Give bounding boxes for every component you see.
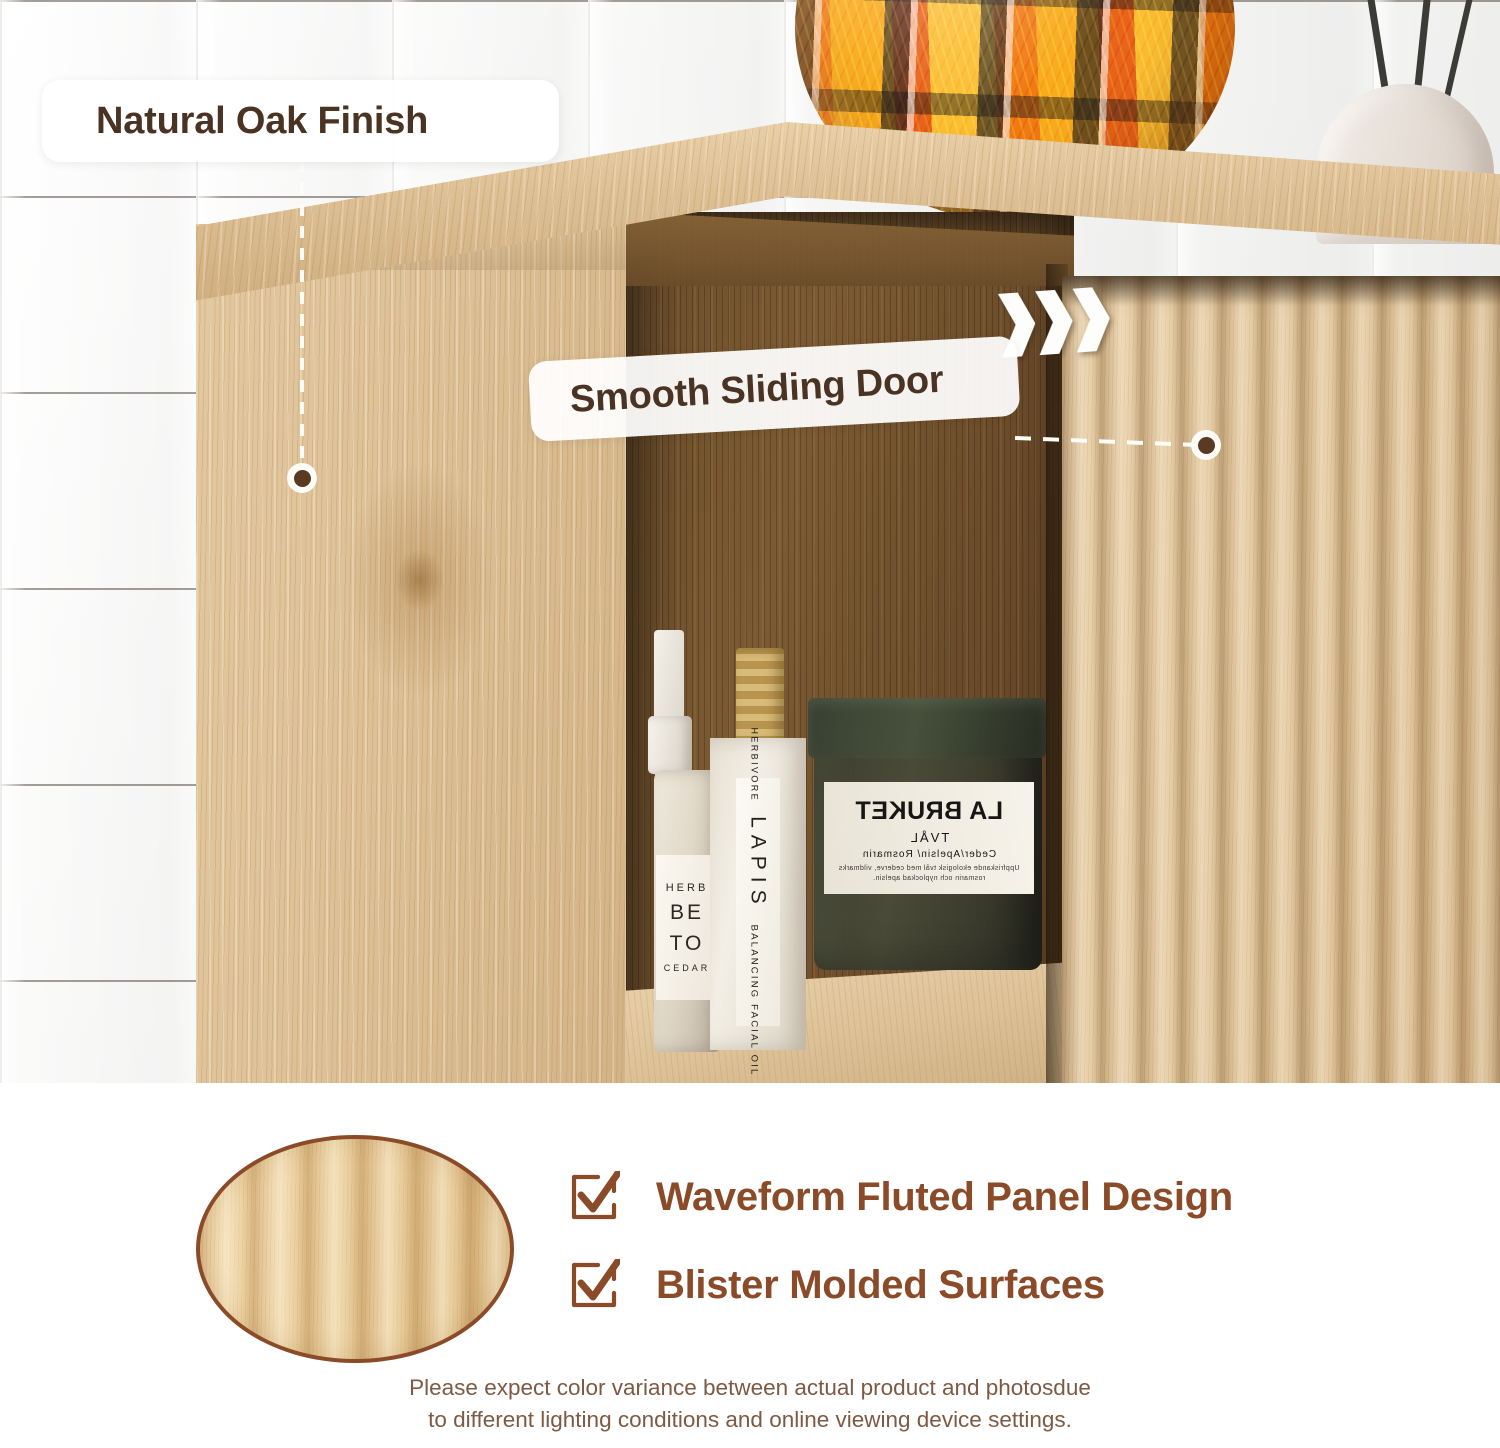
soap-jar-scent-text: Ceder/Apelsin/ Rosmarin xyxy=(862,849,996,860)
soap-jar-lid xyxy=(808,698,1046,758)
toner-line1-text: BE xyxy=(670,901,704,925)
checkbox-check-icon xyxy=(568,1259,620,1311)
disclaimer-line-2: to different lighting conditions and onl… xyxy=(0,1404,1500,1436)
toner-line3-text: CEDAR xyxy=(664,963,711,973)
soap-jar-type-text: TVÅL xyxy=(909,830,950,845)
callout-natural-oak-finish: Natural Oak Finish xyxy=(42,80,559,162)
feature-summary-section: Waveform Fluted Panel Design Blister Mol… xyxy=(0,1083,1500,1448)
soap-jar-brand-text: LA BRUKET xyxy=(855,797,1003,826)
feature-label: Waveform Fluted Panel Design xyxy=(656,1175,1233,1220)
sliding-door-top-shadow xyxy=(1062,276,1500,306)
toner-pump-collar xyxy=(648,716,692,774)
facial-oil-brand-text: HERBIVORE xyxy=(750,727,760,802)
feature-label: Blister Molded Surfaces xyxy=(656,1263,1105,1308)
wood-grain-swatch-icon xyxy=(196,1135,514,1363)
feature-item: Blister Molded Surfaces xyxy=(568,1259,1428,1311)
product-photo: PURE HERB BE TO CEDAR LA BRUKET TVÅL Ced… xyxy=(0,0,1500,1083)
disclaimer-line-1: Please expect color variance between act… xyxy=(0,1372,1500,1404)
checkbox-check-icon xyxy=(568,1171,620,1223)
facial-oil-descriptor-text: BALANCING FACIAL OIL xyxy=(749,925,760,1077)
cabinet-left-side-panel xyxy=(196,224,626,1083)
feature-item: Waveform Fluted Panel Design xyxy=(568,1171,1428,1223)
toner-brand-text: HERB xyxy=(666,882,709,894)
color-variance-disclaimer: Please expect color variance between act… xyxy=(0,1372,1500,1436)
feature-list: Waveform Fluted Panel Design Blister Mol… xyxy=(568,1171,1428,1311)
chevron-right-icon xyxy=(1035,289,1075,355)
soap-jar-label: LA BRUKET TVÅL Ceder/Apelsin/ Rosmarin U… xyxy=(824,782,1034,894)
chevron-right-icon xyxy=(1072,286,1112,352)
fluted-sliding-door xyxy=(1062,276,1500,1083)
callout-leader-line-oak xyxy=(300,160,304,472)
toner-line2-text: TO xyxy=(670,932,705,956)
callout-dot-oak xyxy=(287,463,317,493)
facial-oil-bottle-label: HERBIVORE LAPIS BALANCING FACIAL OIL xyxy=(736,778,780,1026)
toner-bottle-label: HERB BE TO CEDAR xyxy=(656,855,718,1000)
soap-jar-detail-text: Uppfriskande ekologisk tvål med cederve,… xyxy=(824,864,1034,883)
facial-oil-product-text: LAPIS xyxy=(746,816,770,911)
callout-dot-door xyxy=(1191,430,1221,460)
